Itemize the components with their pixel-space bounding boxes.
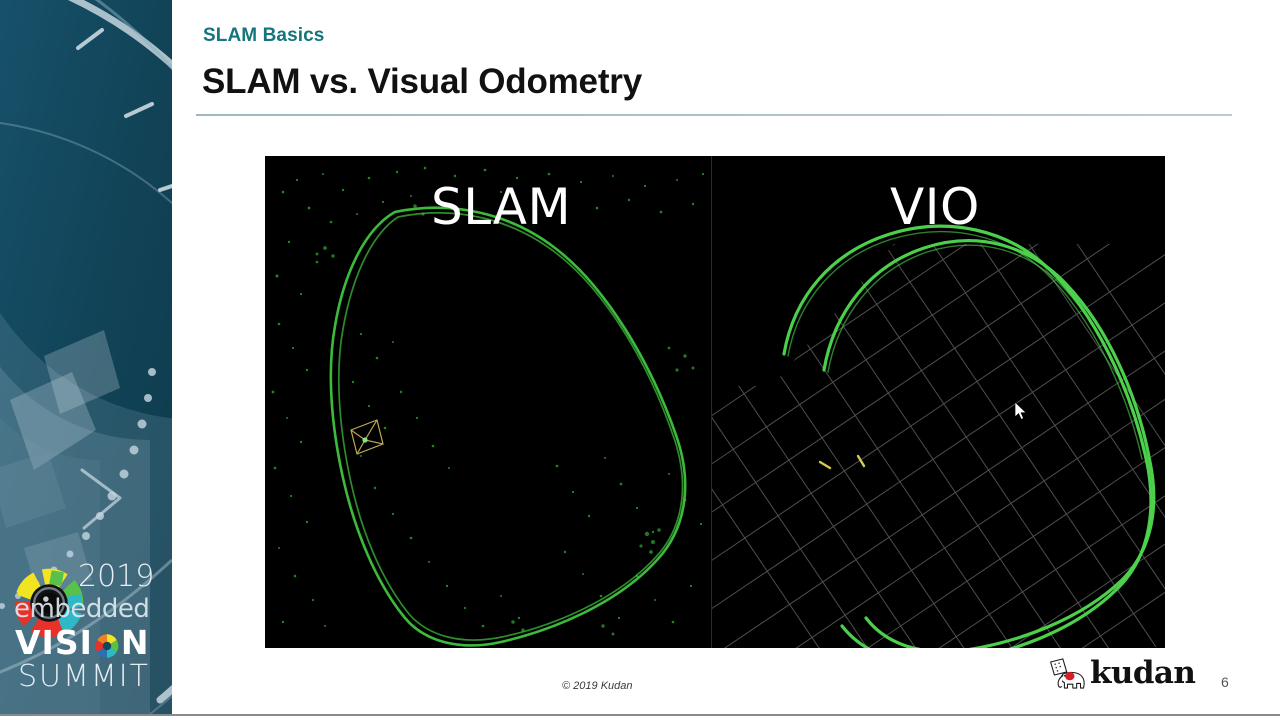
slide-root: 2019 embedded VISI bbox=[0, 0, 1280, 720]
page-title: SLAM vs. Visual Odometry bbox=[202, 62, 642, 102]
logo-vision-prefix: VISI bbox=[15, 626, 93, 659]
elephant-icon bbox=[1046, 657, 1092, 693]
slam-label: SLAM bbox=[431, 182, 571, 232]
logo-summit-text: SUMMIT bbox=[18, 662, 150, 692]
vio-panel: VIO bbox=[712, 156, 1165, 648]
logo-embedded-text: embedded bbox=[14, 596, 149, 622]
slam-panel: SLAM bbox=[265, 156, 711, 648]
comparison-figure: SLAM bbox=[265, 156, 1165, 648]
logo-vision-text: VISI N bbox=[15, 626, 150, 659]
section-eyebrow: SLAM Basics bbox=[203, 25, 324, 47]
logo-aperture-o-icon bbox=[94, 631, 120, 657]
title-divider bbox=[196, 114, 1232, 116]
copyright-notice: © 2019 Kudan bbox=[562, 680, 633, 692]
page-number: 6 bbox=[1221, 674, 1229, 690]
decorative-sidebar: 2019 embedded VISI bbox=[0, 0, 172, 714]
logo-vision-suffix: N bbox=[121, 626, 150, 659]
logo-year: 2019 bbox=[78, 562, 154, 592]
kudan-wordmark: kudan bbox=[1090, 657, 1195, 690]
vio-label: VIO bbox=[890, 182, 980, 232]
embedded-vision-summit-logo: 2019 embedded VISI bbox=[4, 556, 172, 706]
kudan-logo: kudan bbox=[1046, 655, 1204, 695]
bottom-border bbox=[0, 714, 1280, 716]
